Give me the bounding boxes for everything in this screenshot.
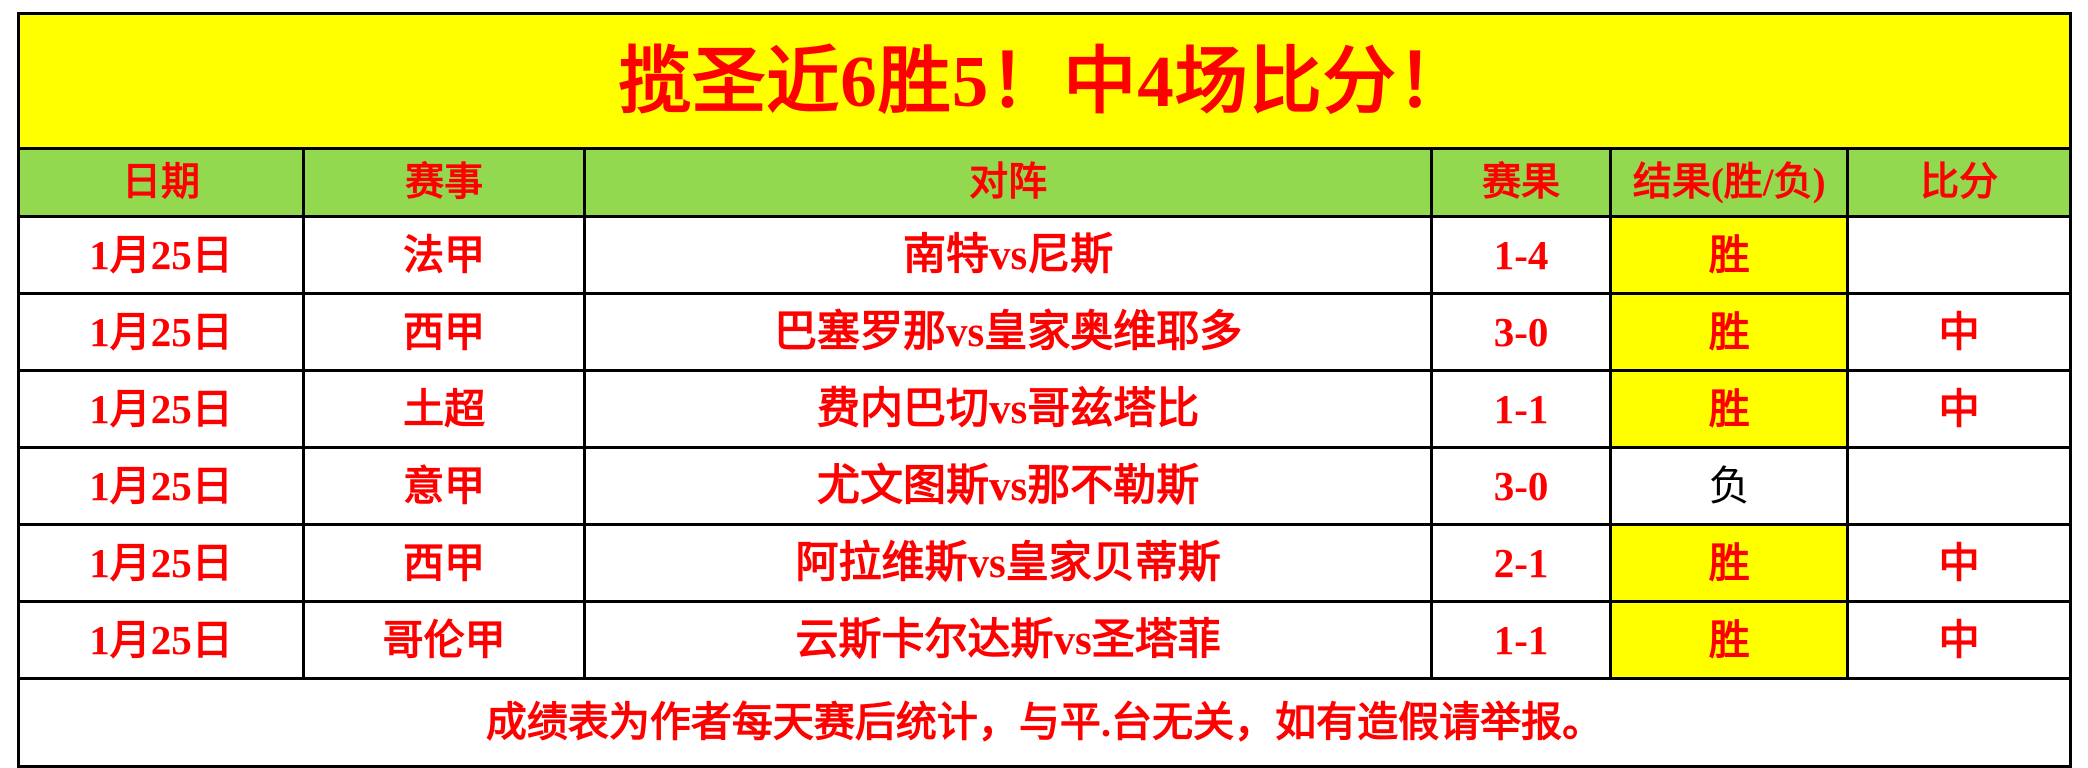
cell-date: 1月25日 — [19, 602, 304, 679]
column-header-league: 赛事 — [303, 149, 584, 217]
column-header-date: 日期 — [19, 149, 304, 217]
column-header-league-label: 赛事 — [405, 161, 483, 204]
match-value: 巴塞罗那vs皇家奥维耶多 — [774, 309, 1242, 356]
cell-match: 南特vs尼斯 — [585, 217, 1432, 294]
date-value: 1月25日 — [89, 463, 233, 509]
cell-hit: 中 — [1848, 294, 2071, 371]
league-value: 哥伦甲 — [383, 617, 506, 663]
column-header-result-label: 结果(胜/负) — [1633, 161, 1826, 204]
cell-result: 胜 — [1611, 294, 1848, 371]
score-value: 1-4 — [1494, 232, 1549, 278]
column-header-score-label: 赛果 — [1482, 161, 1560, 204]
cell-league: 西甲 — [303, 294, 584, 371]
league-value: 法甲 — [403, 232, 485, 278]
cell-match: 阿拉维斯vs皇家贝蒂斯 — [585, 525, 1432, 602]
cell-match: 尤文图斯vs那不勒斯 — [585, 448, 1432, 525]
cell-league: 西甲 — [303, 525, 584, 602]
score-value: 1-1 — [1494, 617, 1549, 663]
match-value: 尤文图斯vs那不勒斯 — [817, 463, 1199, 510]
hit-value: 中 — [1939, 617, 1980, 663]
match-value: 阿拉维斯vs皇家贝蒂斯 — [796, 540, 1221, 587]
cell-result: 胜 — [1611, 217, 1848, 294]
date-value: 1月25日 — [89, 540, 233, 586]
cell-result: 负 — [1611, 448, 1848, 525]
cell-hit — [1848, 448, 2071, 525]
hit-value: 中 — [1939, 540, 1980, 586]
cell-league: 意甲 — [303, 448, 584, 525]
column-header-hit-label: 比分 — [1920, 161, 1998, 204]
result-value: 胜 — [1709, 540, 1750, 586]
cell-league: 哥伦甲 — [303, 602, 584, 679]
cell-score: 1-1 — [1431, 602, 1610, 679]
result-value: 负 — [1709, 463, 1750, 509]
results-table-page: 揽圣近6胜5！中4场比分！ 日期 赛事 对阵 赛果 结果(胜/负) — [0, 0, 2088, 768]
table-row: 1月25日 法甲 南特vs尼斯 1-4 胜 — [19, 217, 2071, 294]
match-value: 云斯卡尔达斯vs圣塔菲 — [796, 617, 1221, 664]
cell-league: 土超 — [303, 371, 584, 448]
footer-note-text: 成绩表为作者每天赛后统计，与平.台无关，如有造假请举报。 — [486, 699, 1603, 745]
league-value: 西甲 — [403, 540, 485, 586]
column-header-date-label: 日期 — [122, 161, 200, 204]
cell-match: 费内巴切vs哥兹塔比 — [585, 371, 1432, 448]
cell-date: 1月25日 — [19, 448, 304, 525]
cell-score: 3-0 — [1431, 448, 1610, 525]
cell-date: 1月25日 — [19, 217, 304, 294]
cell-date: 1月25日 — [19, 294, 304, 371]
column-header-result: 结果(胜/负) — [1611, 149, 1848, 217]
hit-value: 中 — [1939, 309, 1980, 355]
cell-score: 3-0 — [1431, 294, 1610, 371]
result-value: 胜 — [1709, 232, 1750, 278]
banner-row: 揽圣近6胜5！中4场比分！ — [19, 14, 2071, 149]
hit-value: 中 — [1939, 386, 1980, 432]
date-value: 1月25日 — [89, 309, 233, 355]
result-value: 胜 — [1709, 309, 1750, 355]
score-value: 1-1 — [1494, 386, 1549, 432]
cell-hit — [1848, 217, 2071, 294]
result-value: 胜 — [1709, 386, 1750, 432]
cell-result: 胜 — [1611, 525, 1848, 602]
table-row: 1月25日 土超 费内巴切vs哥兹塔比 1-1 胜 中 — [19, 371, 2071, 448]
table-row: 1月25日 西甲 阿拉维斯vs皇家贝蒂斯 2-1 胜 中 — [19, 525, 2071, 602]
match-value: 南特vs尼斯 — [903, 232, 1113, 279]
cell-result: 胜 — [1611, 371, 1848, 448]
cell-hit: 中 — [1848, 371, 2071, 448]
column-header-match-label: 对阵 — [969, 161, 1047, 204]
score-value: 3-0 — [1494, 463, 1549, 509]
match-value: 费内巴切vs哥兹塔比 — [817, 386, 1199, 433]
cell-score: 1-4 — [1431, 217, 1610, 294]
table-row: 1月25日 意甲 尤文图斯vs那不勒斯 3-0 负 — [19, 448, 2071, 525]
table-header-row: 日期 赛事 对阵 赛果 结果(胜/负) 比分 — [19, 149, 2071, 217]
result-value: 胜 — [1709, 617, 1750, 663]
date-value: 1月25日 — [89, 232, 233, 278]
table-row: 1月25日 哥伦甲 云斯卡尔达斯vs圣塔菲 1-1 胜 中 — [19, 602, 2071, 679]
cell-hit: 中 — [1848, 525, 2071, 602]
page-title: 揽圣近6胜5！中4场比分！ — [618, 41, 1471, 122]
footer-note-cell: 成绩表为作者每天赛后统计，与平.台无关，如有造假请举报。 — [19, 679, 2071, 767]
column-header-match: 对阵 — [585, 149, 1432, 217]
cell-result: 胜 — [1611, 602, 1848, 679]
league-value: 西甲 — [403, 309, 485, 355]
score-value: 3-0 — [1494, 309, 1549, 355]
cell-score: 2-1 — [1431, 525, 1610, 602]
cell-match: 云斯卡尔达斯vs圣塔菲 — [585, 602, 1432, 679]
league-value: 意甲 — [403, 463, 485, 509]
cell-date: 1月25日 — [19, 371, 304, 448]
score-value: 2-1 — [1494, 540, 1549, 586]
cell-league: 法甲 — [303, 217, 584, 294]
date-value: 1月25日 — [89, 386, 233, 432]
cell-match: 巴塞罗那vs皇家奥维耶多 — [585, 294, 1432, 371]
column-header-score: 赛果 — [1431, 149, 1610, 217]
cell-score: 1-1 — [1431, 371, 1610, 448]
date-value: 1月25日 — [89, 617, 233, 663]
footer-note-row: 成绩表为作者每天赛后统计，与平.台无关，如有造假请举报。 — [19, 679, 2071, 767]
column-header-hit: 比分 — [1848, 149, 2071, 217]
league-value: 土超 — [403, 386, 485, 432]
cell-date: 1月25日 — [19, 525, 304, 602]
table-row: 1月25日 西甲 巴塞罗那vs皇家奥维耶多 3-0 胜 中 — [19, 294, 2071, 371]
cell-hit: 中 — [1848, 602, 2071, 679]
banner-cell: 揽圣近6胜5！中4场比分！ — [19, 14, 2071, 149]
match-results-table: 揽圣近6胜5！中4场比分！ 日期 赛事 对阵 赛果 结果(胜/负) — [17, 12, 2072, 768]
